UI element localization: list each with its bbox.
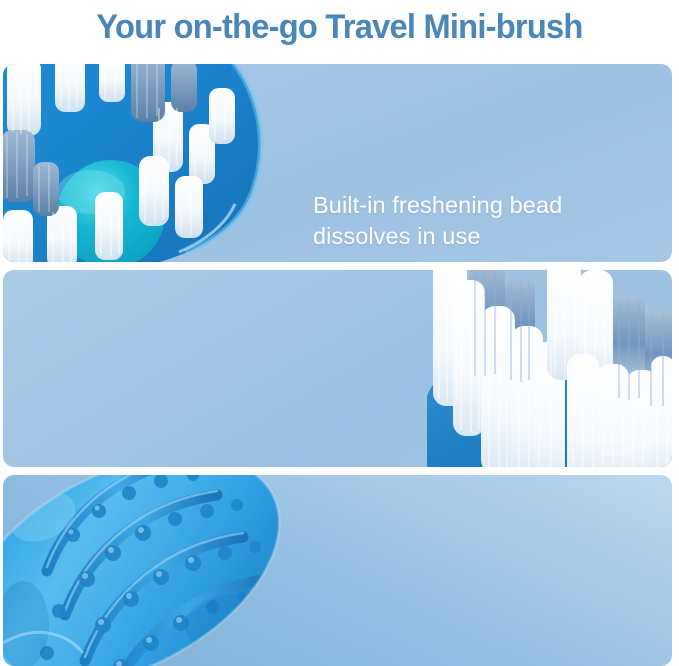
toothbrush-head-with-freshening-bead-photo	[3, 64, 303, 262]
page-title: Your on-the-go Travel Mini-brush	[14, 0, 666, 62]
tongue-and-cheek-cleaner-photo	[3, 475, 313, 666]
panel-1-caption-line-1: Built-in freshening bead	[313, 190, 562, 221]
feature-panel-tongue-cheek-cleaner: Quadruple Tongue & Cheek Cleaner, remove…	[3, 475, 672, 666]
feature-panel-freshening-bead: Built-in freshening bead dissolves in us…	[3, 64, 672, 262]
panel-1-caption-line-2: dissolves in use	[313, 221, 562, 252]
medium-bristles-closeup-photo	[427, 270, 672, 467]
panel-1-caption: Built-in freshening bead dissolves in us…	[313, 190, 562, 252]
feature-panel-medium-bristles: Medium bristles for superior cleaning	[3, 270, 672, 467]
